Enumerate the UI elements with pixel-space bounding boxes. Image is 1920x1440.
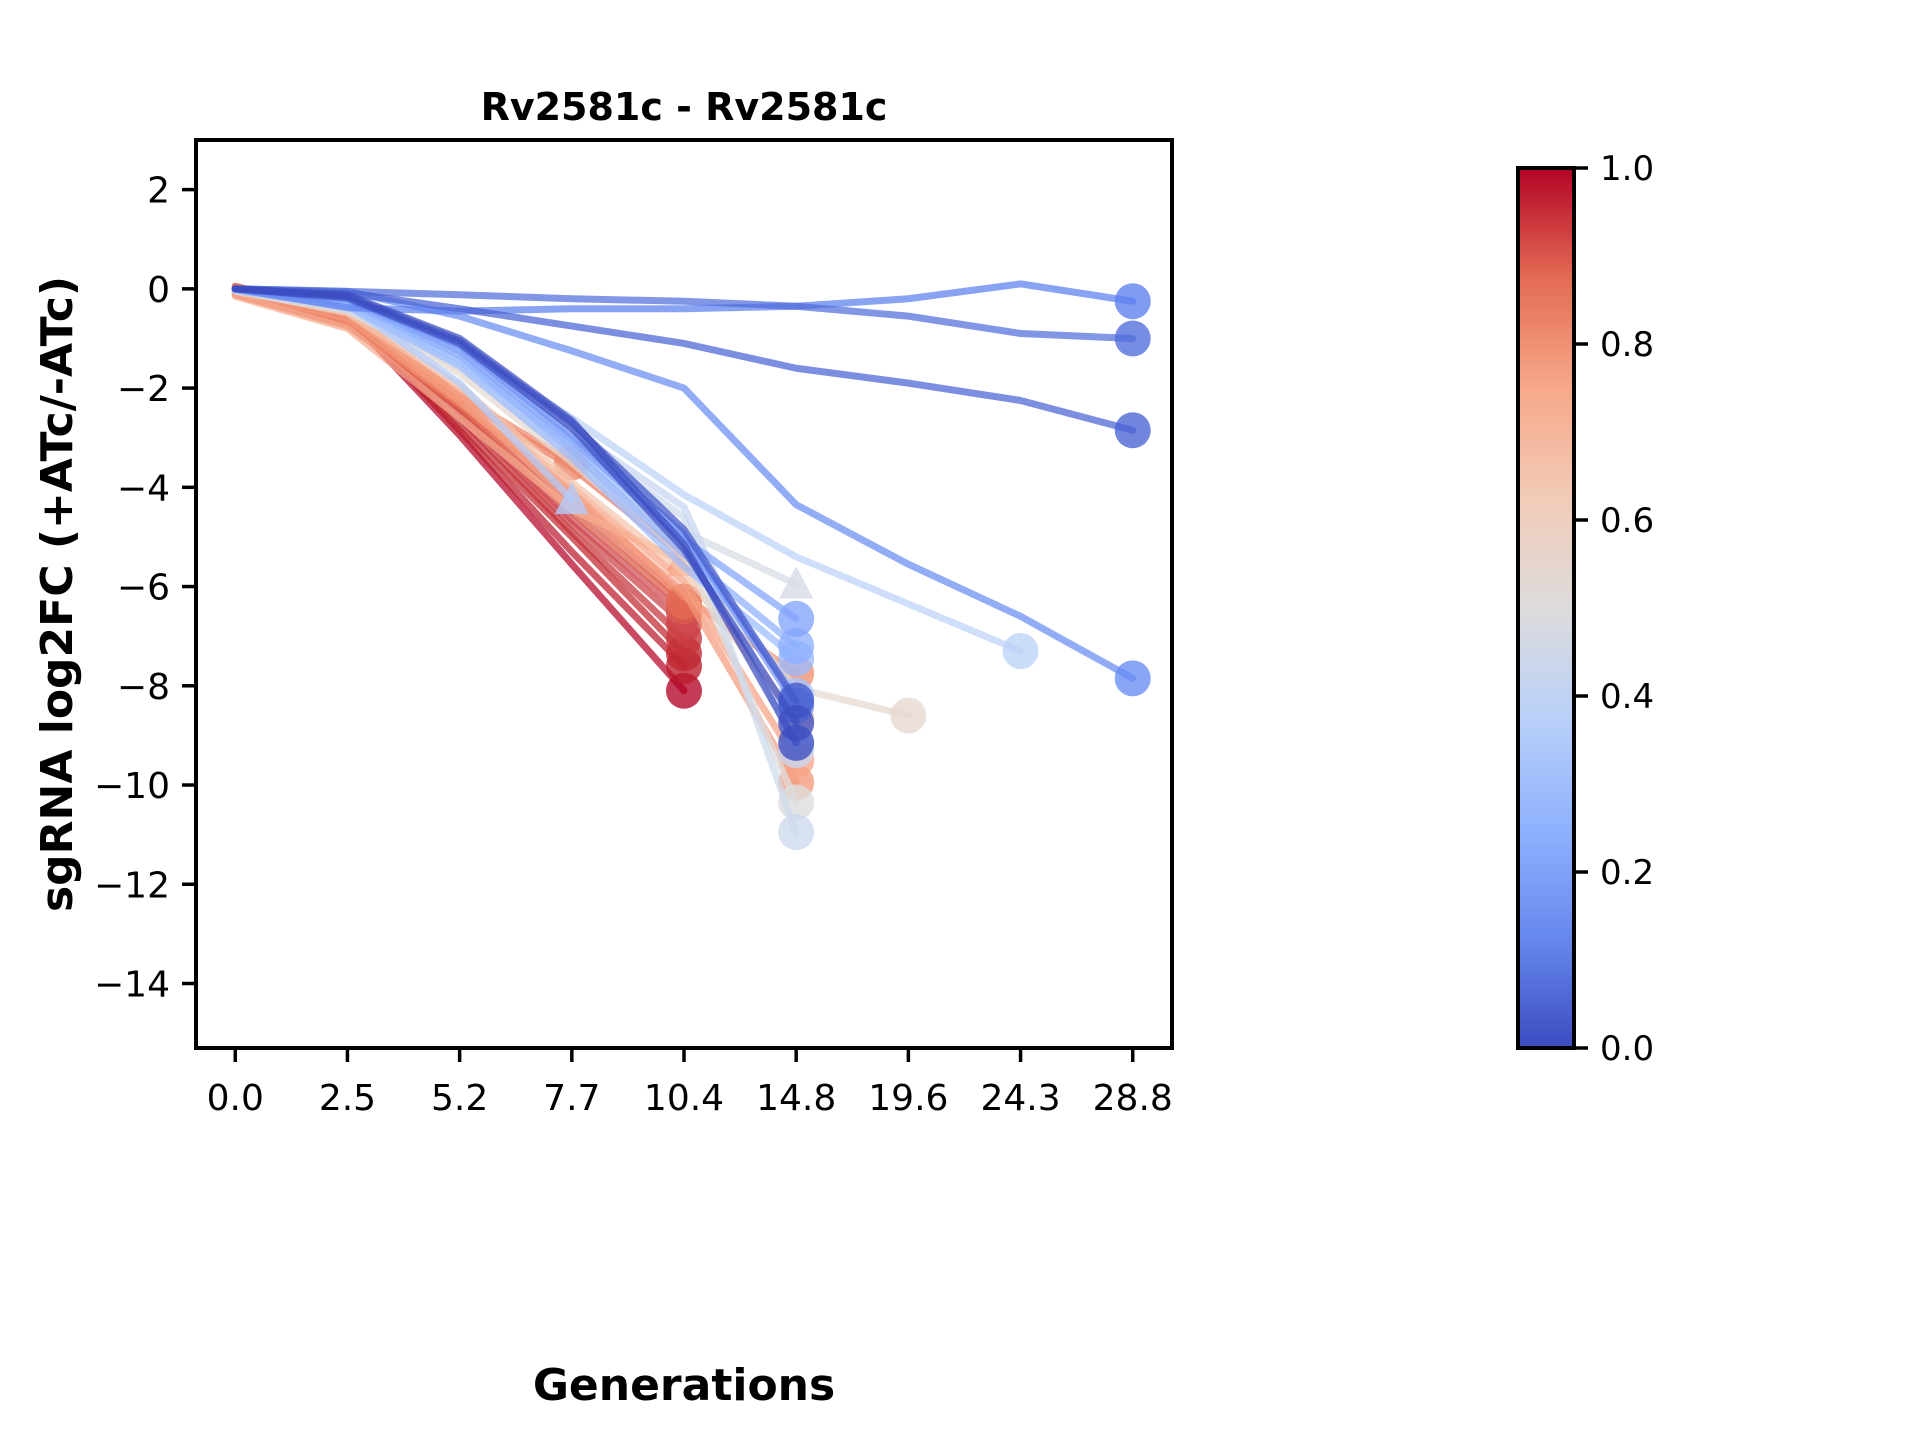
series-endpoint-circle-marker [778, 814, 814, 850]
x-axis-label: Generations [533, 1360, 835, 1411]
series-line [235, 289, 796, 743]
series-line [235, 291, 796, 782]
colorbar-tick-label: 0.2 [1600, 853, 1654, 893]
y-tick-label: −4 [117, 468, 170, 509]
series-line [235, 289, 796, 760]
x-tick-label: 14.8 [756, 1078, 836, 1119]
series-endpoint-circle-marker [1115, 660, 1151, 696]
series-endpoint-circle-marker [1115, 412, 1151, 448]
x-tick-label: 24.3 [980, 1078, 1060, 1119]
series-endpoint-circle-marker [778, 725, 814, 761]
series-line [235, 289, 796, 723]
x-tick-label: 0.0 [207, 1078, 264, 1119]
y-tick-label: −10 [94, 766, 170, 807]
y-tick-label: −12 [94, 865, 170, 906]
series-layer [235, 283, 1150, 850]
figure-canvas: Rv2581c - Rv2581c 0.02.55.27.710.414.819… [0, 0, 1920, 1440]
y-tick-label: 2 [147, 171, 170, 212]
colorbar-tick-label: 0.4 [1600, 677, 1654, 717]
colorbar: 0.00.20.40.60.81.0 [1518, 149, 1654, 1069]
x-tick-label: 19.6 [868, 1078, 948, 1119]
series-endpoint-circle-marker [890, 698, 926, 734]
series-endpoint-circle-marker [778, 601, 814, 637]
y-tick-label: −6 [117, 568, 170, 609]
y-tick-label: −8 [117, 667, 170, 708]
y-tick-label: 0 [147, 270, 170, 311]
y-axis-label: sgRNA log2FC (+ATc/-ATc) [32, 276, 83, 912]
series-endpoint-circle-marker [1115, 283, 1151, 319]
x-tick-label: 10.4 [644, 1078, 724, 1119]
x-tick-label: 7.7 [543, 1078, 600, 1119]
x-axis-ticks: 0.02.55.27.710.414.819.624.328.8 [207, 1048, 1173, 1119]
y-axis-ticks: 20−2−4−6−8−10−12−14 [94, 171, 196, 1006]
x-tick-label: 28.8 [1093, 1078, 1173, 1119]
series-line [235, 289, 796, 750]
colorbar-tick-label: 0.6 [1600, 501, 1654, 541]
colorbar-tick-label: 0.8 [1600, 325, 1654, 365]
series-endpoint-circle-marker [1115, 320, 1151, 356]
series-endpoint-circle-marker [1003, 633, 1039, 669]
y-tick-label: −2 [117, 369, 170, 410]
colorbar-gradient [1518, 168, 1574, 1048]
x-tick-label: 5.2 [431, 1078, 488, 1119]
colorbar-tick-label: 1.0 [1600, 149, 1654, 189]
colorbar-ticks: 0.00.20.40.60.81.0 [1574, 149, 1654, 1069]
chart-title: Rv2581c - Rv2581c [481, 85, 888, 129]
line-chart: Rv2581c - Rv2581c 0.02.55.27.710.414.819… [0, 0, 1920, 1440]
y-tick-label: −14 [94, 964, 170, 1005]
x-tick-label: 2.5 [319, 1078, 376, 1119]
colorbar-tick-label: 0.0 [1600, 1029, 1654, 1069]
